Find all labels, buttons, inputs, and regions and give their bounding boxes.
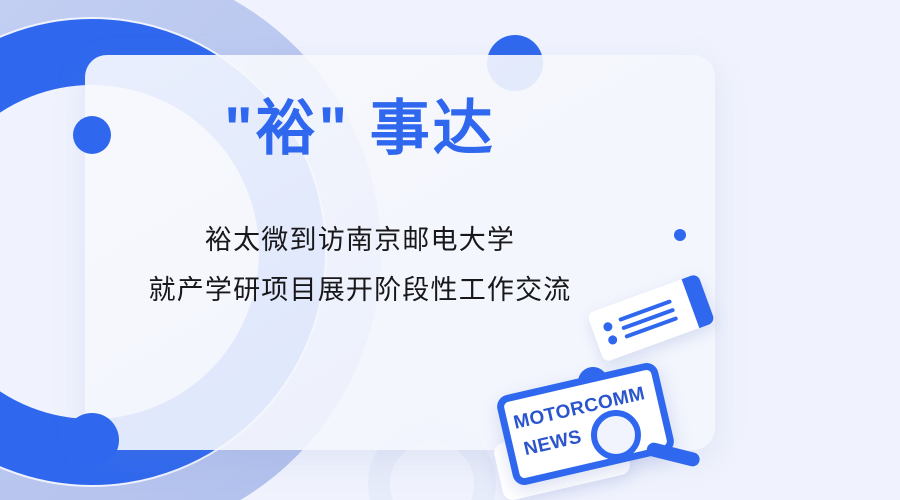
news-card: MOTORCOMM NEWS [495,361,676,488]
magnifier-lens-icon [591,410,641,460]
blue-dot-left [73,116,111,154]
blue-dot-small [674,229,686,241]
blue-dot-bottom [65,413,119,467]
promo-banner: "裕" 事达 裕太微到访南京邮电大学 就产学研项目展开阶段性工作交流 MOTOR… [0,0,900,500]
news-graphic: MOTORCOMM NEWS [495,368,705,498]
